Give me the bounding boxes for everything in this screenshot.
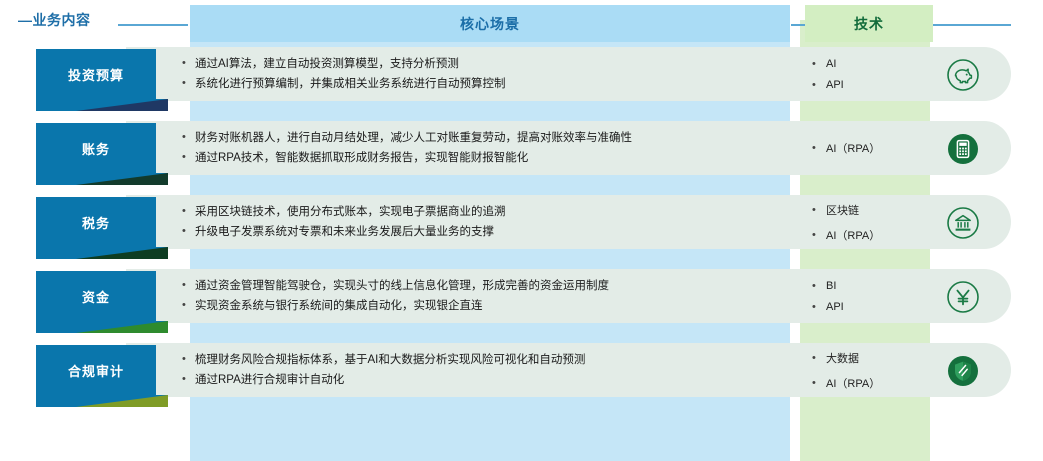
- tab-tail: [36, 173, 168, 185]
- scenario-bullet: •通过资金管理智能驾驶仓，实现头寸的线上信息化管理，形成完善的资金运用制度: [182, 279, 772, 293]
- capability-row: •财务对账机器人，进行自动月结处理，减少人工对账重复劳动，提高对账效率与准确性•…: [0, 121, 1043, 183]
- scenario-bullet-text: 升级电子发票系统对专票和未来业务发展后大量业务的支撑: [195, 225, 494, 239]
- bullet-marker: •: [182, 151, 195, 165]
- scenario-bullet: •通过RPA进行合规审计自动化: [182, 373, 772, 387]
- scenario-bullet-text: 财务对账机器人，进行自动月结处理，减少人工对账重复劳动，提高对账效率与准确性: [195, 131, 632, 145]
- calculator-icon: [944, 130, 982, 168]
- tech-item-label: 大数据: [826, 350, 859, 366]
- scenario-bullet-text: 实现资金系统与银行系统间的集成自动化，实现银企直连: [195, 299, 483, 313]
- tab-tail-triangle: [76, 321, 168, 333]
- tab-tail: [36, 321, 168, 333]
- tech-list: •区块链•AI（RPA）: [812, 195, 932, 249]
- capability-card: •梳理财务风险合规指标体系，基于AI和大数据分析实现风险可视化和自动预测•通过R…: [126, 343, 1011, 397]
- header-rule-right: [933, 24, 1011, 26]
- business-content-header-label: —业务内容: [18, 10, 91, 30]
- bullet-marker: •: [812, 352, 826, 364]
- bank-building-icon: [944, 204, 982, 242]
- tab-tail-triangle: [76, 395, 168, 407]
- scenario-bullet-text: 通过资金管理智能驾驶仓，实现头寸的线上信息化管理，形成完善的资金运用制度: [195, 279, 609, 293]
- capability-row: •通过AI算法，建立自动投资测算模型，支持分析预测•系统化进行预算编制，并集成相…: [0, 47, 1043, 109]
- tech-item: •区块链: [812, 202, 932, 218]
- tech-item-label: 区块链: [826, 202, 859, 218]
- business-tab[interactable]: 账务: [36, 123, 156, 173]
- tech-item: •API: [812, 79, 932, 91]
- capability-card: •通过AI算法，建立自动投资测算模型，支持分析预测•系统化进行预算编制，并集成相…: [126, 47, 1011, 101]
- tab-tail-triangle: [76, 173, 168, 185]
- capability-row: •梳理财务风险合规指标体系，基于AI和大数据分析实现风险可视化和自动预测•通过R…: [0, 343, 1043, 405]
- business-tab-label: 合规审计: [68, 361, 124, 380]
- tab-tail: [36, 99, 168, 111]
- scenario-bullet-text: 采用区块链技术，使用分布式账本，实现电子票据商业的追溯: [195, 205, 506, 219]
- scenario-bullet: •梳理财务风险合规指标体系，基于AI和大数据分析实现风险可视化和自动预测: [182, 353, 772, 367]
- bullet-marker: •: [812, 79, 826, 91]
- bullet-marker: •: [812, 229, 826, 241]
- tech-header-title: 技术: [854, 14, 884, 34]
- bullet-marker: •: [812, 142, 826, 154]
- bullet-marker: •: [182, 131, 195, 145]
- scenario-bullet: •采用区块链技术，使用分布式账本，实现电子票据商业的追溯: [182, 205, 772, 219]
- scenario-bullet-text: 系统化进行预算编制，并集成相关业务系统进行自动预算控制: [195, 77, 506, 91]
- scenario-bullet-text: 通过RPA进行合规审计自动化: [195, 373, 344, 387]
- piggy-bank-icon: [944, 56, 982, 94]
- bullet-marker: •: [812, 301, 826, 313]
- business-tab-label: 投资预算: [68, 65, 124, 84]
- tech-header-box: 技术: [805, 5, 933, 42]
- tech-item-label: AI（RPA）: [826, 227, 880, 243]
- bullet-marker: •: [182, 373, 195, 387]
- bullet-marker: •: [182, 77, 195, 91]
- scenario-bullet-text: 通过AI算法，建立自动投资测算模型，支持分析预测: [195, 57, 459, 71]
- header-rule-middle: [791, 24, 805, 26]
- tech-list: •AI（RPA）: [812, 121, 932, 175]
- tech-item: •API: [812, 301, 932, 313]
- tech-item-label: BI: [826, 280, 836, 292]
- business-tab-label: 账务: [82, 139, 110, 158]
- bullet-marker: •: [182, 205, 195, 219]
- tech-item: •AI（RPA）: [812, 375, 932, 391]
- yuan-currency-icon: [944, 278, 982, 316]
- capability-row: •通过资金管理智能驾驶仓，实现头寸的线上信息化管理，形成完善的资金运用制度•实现…: [0, 269, 1043, 331]
- business-tab[interactable]: 合规审计: [36, 345, 156, 395]
- bullet-marker: •: [182, 57, 195, 71]
- tab-tail: [36, 247, 168, 259]
- tab-tail: [36, 395, 168, 407]
- capability-row: •采用区块链技术，使用分布式账本，实现电子票据商业的追溯•升级电子发票系统对专票…: [0, 195, 1043, 257]
- bullet-marker: •: [182, 279, 195, 293]
- slide-canvas: —业务内容 核心场景 技术 •通过AI算法，建立自动投资测算模型，支持分析预测•…: [0, 0, 1043, 461]
- tech-item-label: AI（RPA）: [826, 375, 880, 391]
- capability-card: •采用区块链技术，使用分布式账本，实现电子票据商业的追溯•升级电子发票系统对专票…: [126, 195, 1011, 249]
- tab-tail-triangle: [76, 247, 168, 259]
- tech-item-label: API: [826, 301, 844, 313]
- scenario-bullets: •通过AI算法，建立自动投资测算模型，支持分析预测•系统化进行预算编制，并集成相…: [182, 47, 772, 101]
- bullet-marker: •: [182, 225, 195, 239]
- scenario-bullet: •通过RPA技术，智能数据抓取形成财务报告，实现智能财报智能化: [182, 151, 772, 165]
- scenario-bullet: •财务对账机器人，进行自动月结处理，减少人工对账重复劳动，提高对账效率与准确性: [182, 131, 772, 145]
- tech-item-label: AI: [826, 58, 836, 70]
- tech-item: •AI（RPA）: [812, 227, 932, 243]
- scenario-bullet: •实现资金系统与银行系统间的集成自动化，实现银企直连: [182, 299, 772, 313]
- tech-list: •BI•API: [812, 269, 932, 323]
- tech-item: •AI（RPA）: [812, 140, 932, 156]
- tech-list: •AI•API: [812, 47, 932, 101]
- bullet-marker: •: [812, 58, 826, 70]
- scenario-header-title: 核心场景: [460, 14, 520, 34]
- scenario-bullets: •梳理财务风险合规指标体系，基于AI和大数据分析实现风险可视化和自动预测•通过R…: [182, 343, 772, 397]
- bullet-marker: •: [812, 377, 826, 389]
- tech-list: •大数据•AI（RPA）: [812, 343, 932, 397]
- header-rule-left: [118, 24, 188, 26]
- business-tab-label: 资金: [82, 287, 110, 306]
- tech-item-label: AI（RPA）: [826, 140, 880, 156]
- bullet-marker: •: [182, 353, 195, 367]
- scenario-bullet-text: 梳理财务风险合规指标体系，基于AI和大数据分析实现风险可视化和自动预测: [195, 353, 585, 367]
- business-tab-label: 税务: [82, 213, 110, 232]
- business-tab[interactable]: 投资预算: [36, 49, 156, 99]
- scenario-bullets: •财务对账机器人，进行自动月结处理，减少人工对账重复劳动，提高对账效率与准确性•…: [182, 121, 772, 175]
- scenario-bullet-text: 通过RPA技术，智能数据抓取形成财务报告，实现智能财报智能化: [195, 151, 528, 165]
- business-tab[interactable]: 资金: [36, 271, 156, 321]
- shield-icon: [944, 352, 982, 390]
- scenario-bullet: •系统化进行预算编制，并集成相关业务系统进行自动预算控制: [182, 77, 772, 91]
- tab-tail-triangle: [76, 99, 168, 111]
- scenario-header-box: 核心场景: [190, 5, 790, 42]
- business-tab[interactable]: 税务: [36, 197, 156, 247]
- capability-card: •通过资金管理智能驾驶仓，实现头寸的线上信息化管理，形成完善的资金运用制度•实现…: [126, 269, 1011, 323]
- scenario-bullet: •升级电子发票系统对专票和未来业务发展后大量业务的支撑: [182, 225, 772, 239]
- scenario-bullets: •通过资金管理智能驾驶仓，实现头寸的线上信息化管理，形成完善的资金运用制度•实现…: [182, 269, 772, 323]
- tech-item: •AI: [812, 58, 932, 70]
- tech-item: •大数据: [812, 350, 932, 366]
- scenario-bullets: •采用区块链技术，使用分布式账本，实现电子票据商业的追溯•升级电子发票系统对专票…: [182, 195, 772, 249]
- bullet-marker: •: [812, 280, 826, 292]
- tech-item: •BI: [812, 280, 932, 292]
- bullet-marker: •: [182, 299, 195, 313]
- capability-card: •财务对账机器人，进行自动月结处理，减少人工对账重复劳动，提高对账效率与准确性•…: [126, 121, 1011, 175]
- scenario-bullet: •通过AI算法，建立自动投资测算模型，支持分析预测: [182, 57, 772, 71]
- header: —业务内容 核心场景 技术: [0, 0, 1043, 42]
- tech-item-label: API: [826, 79, 844, 91]
- bullet-marker: •: [812, 204, 826, 216]
